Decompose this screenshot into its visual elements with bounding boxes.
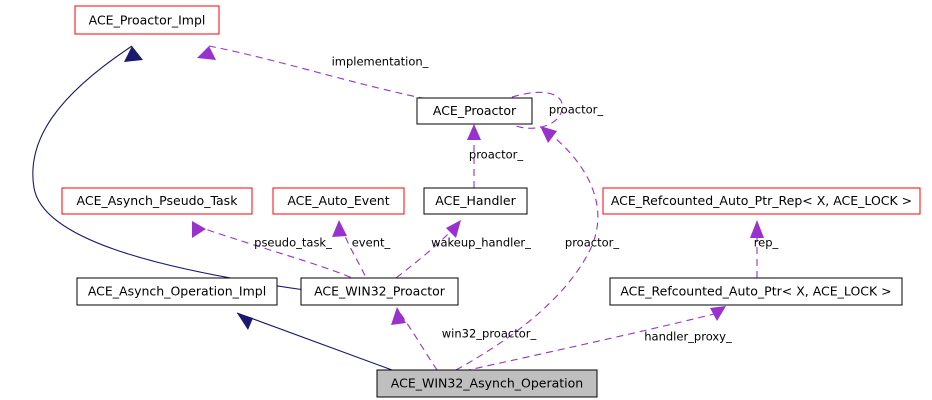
node-label-ace-refcounted-auto-ptr: ACE_Refcounted_Auto_Ptr< X, ACE_LOCK >	[620, 284, 891, 299]
node-ace-asynch-pseudo-task[interactable]: ACE_Asynch_Pseudo_Task	[62, 188, 252, 214]
edge-label-pseudo-task: pseudo_task_	[254, 236, 332, 250]
edge-win32asynchop-win32proactor	[391, 307, 437, 370]
node-label-ace-handler: ACE_Handler	[435, 193, 516, 208]
edge-label-implementation: implementation_	[332, 55, 429, 69]
node-ace-win32-asynch-operation[interactable]: ACE_WIN32_Asynch_Operation	[377, 370, 597, 397]
node-label-ace-asynch-pseudo-task: ACE_Asynch_Pseudo_Task	[77, 193, 239, 208]
node-ace-win32-proactor[interactable]: ACE_WIN32_Proactor	[301, 278, 458, 305]
node-label-ace-proactor-impl: ACE_Proactor_Impl	[89, 13, 206, 28]
node-ace-refcounted-auto-ptr[interactable]: ACE_Refcounted_Auto_Ptr< X, ACE_LOCK >	[610, 278, 902, 305]
class-diagram-canvas: implementation_ proactor_ proactor_ pseu…	[0, 0, 932, 400]
edge-label-proactor-bottom: proactor_	[565, 236, 619, 250]
node-label-ace-win32-asynch-operation: ACE_WIN32_Asynch_Operation	[391, 376, 583, 391]
node-ace-handler[interactable]: ACE_Handler	[424, 188, 527, 214]
edge-win32asynchop-inherits-asynchopimpl	[237, 313, 392, 370]
edge-label-proactor-self: proactor_	[549, 103, 603, 117]
node-ace-asynch-operation-impl[interactable]: ACE_Asynch_Operation_Impl	[77, 278, 277, 305]
edge-win32proactor-pseudotask	[192, 221, 352, 278]
diagram-svg: implementation_ proactor_ proactor_ pseu…	[0, 0, 932, 400]
node-ace-proactor[interactable]: ACE_Proactor	[417, 98, 532, 124]
edge-label-wakeup-handler: wakeup_handler_	[431, 236, 531, 250]
node-ace-auto-event[interactable]: ACE_Auto_Event	[273, 188, 404, 214]
edge-label-event: event_	[352, 236, 391, 250]
node-label-ace-asynch-operation-impl: ACE_Asynch_Operation_Impl	[88, 284, 266, 299]
node-label-ace-win32-proactor: ACE_WIN32_Proactor	[314, 284, 446, 299]
edge-label-proactor-handler: proactor_	[469, 148, 523, 162]
node-ace-refcounted-auto-ptr-rep[interactable]: ACE_Refcounted_Auto_Ptr_Rep< X, ACE_LOCK…	[603, 188, 920, 214]
node-label-ace-auto-event: ACE_Auto_Event	[287, 193, 389, 208]
edge-label-handler-proxy: handler_proxy_	[644, 330, 732, 344]
edge-label-win32-proactor: win32_proactor_	[442, 327, 537, 341]
node-label-ace-proactor: ACE_Proactor	[433, 103, 517, 118]
edge-win32proactor-inherits-proactorimpl	[33, 46, 305, 290]
edge-label-rep: rep_	[754, 236, 779, 250]
node-label-ace-refcounted-auto-ptr-rep: ACE_Refcounted_Auto_Ptr_Rep< X, ACE_LOCK…	[611, 193, 912, 208]
node-ace-proactor-impl[interactable]: ACE_Proactor_Impl	[75, 6, 219, 34]
